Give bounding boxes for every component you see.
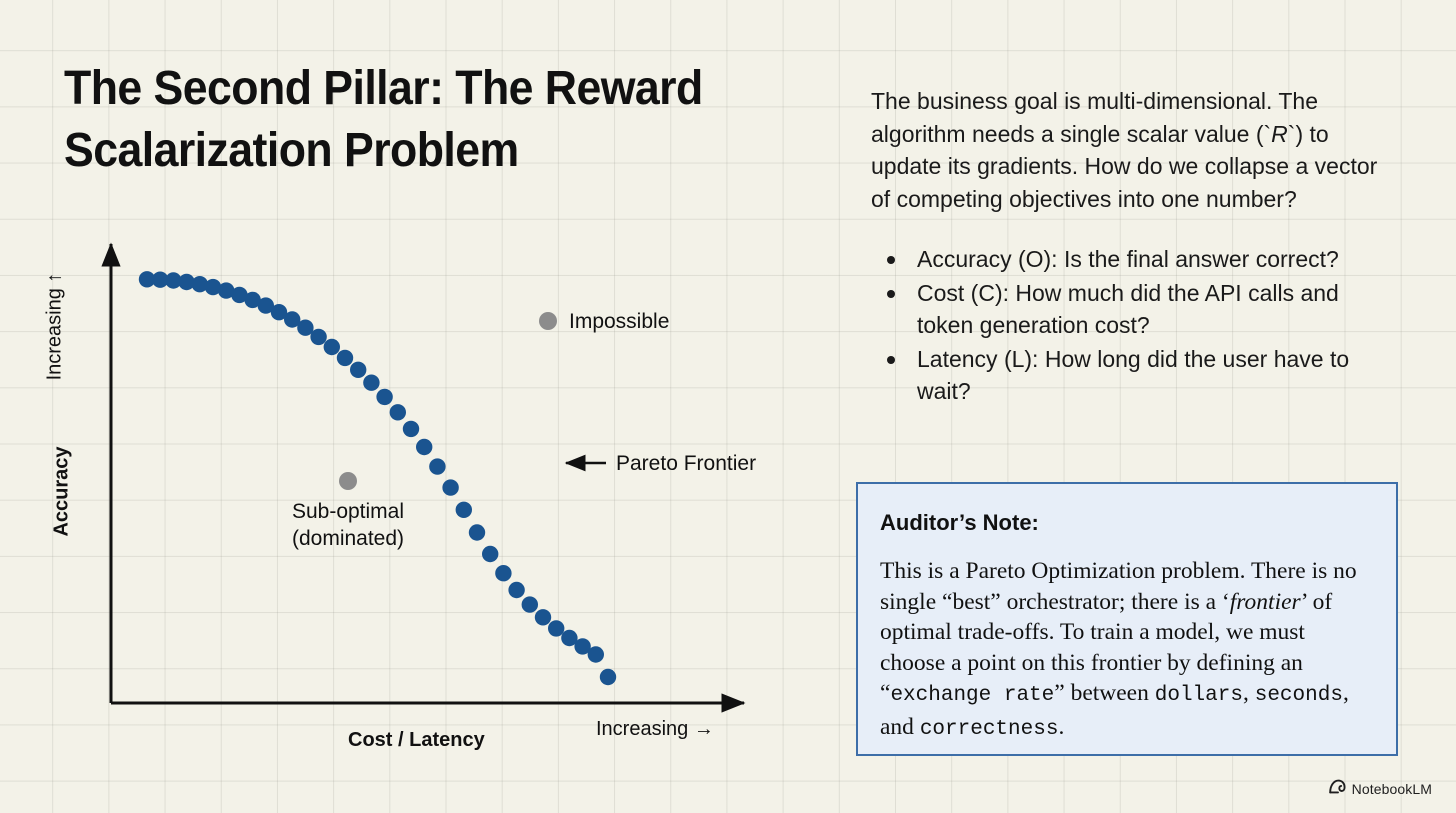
- bullet-text-cost: Cost (C): How much did the API calls and…: [917, 280, 1339, 339]
- bullet-text-accuracy: Accuracy (O): Is the final answer correc…: [917, 246, 1339, 272]
- auditors-note-body: This is a Pareto Optimization problem. T…: [880, 556, 1374, 745]
- intro-reward-symbol: R: [1271, 121, 1288, 147]
- intro-text-part1: The business goal is multi-dimensional. …: [871, 88, 1318, 147]
- y-axis-direction-note: Increasing ↑: [44, 212, 67, 442]
- footer-brand: NotebookLM: [1329, 779, 1432, 799]
- sub-optimal-label: Sub-optimal (dominated): [258, 498, 438, 552]
- x-axis-label: Cost / Latency: [348, 729, 485, 752]
- pareto-frontier-points: [139, 271, 616, 685]
- x-axis-direction-note: Increasing →: [596, 718, 714, 741]
- intro-paragraph: The business goal is multi-dimensional. …: [871, 85, 1391, 215]
- note-seg6: .: [1058, 714, 1064, 740]
- sub-optimal-point: [339, 472, 357, 490]
- auditors-note-box: Auditor’s Note: This is a Pareto Optimiz…: [856, 482, 1398, 756]
- slide-canvas: The Second Pillar: The Reward Scalarizat…: [0, 0, 1456, 813]
- list-item: Accuracy (O): Is the final answer correc…: [871, 243, 1391, 276]
- note-italic-frontier: frontier: [1230, 589, 1301, 615]
- note-mono-exchange-rate: exchange rate: [890, 684, 1054, 707]
- auditors-note-heading: Auditor’s Note:: [880, 510, 1374, 536]
- footer-brand-label: NotebookLM: [1352, 781, 1432, 797]
- list-item: Cost (C): How much did the API calls and…: [871, 277, 1391, 342]
- chart-svg: [0, 0, 840, 813]
- note-mono-dollars: dollars: [1155, 684, 1243, 707]
- objectives-list: Accuracy (O): Is the final answer correc…: [871, 243, 1391, 408]
- pareto-frontier-chart: Accuracy Increasing ↑ Cost / Latency Inc…: [0, 0, 840, 813]
- notebooklm-arc-icon: [1329, 779, 1346, 799]
- note-mono-correctness: correctness: [920, 718, 1059, 741]
- note-seg4: ,: [1243, 680, 1255, 706]
- list-item: Latency (L): How long did the user have …: [871, 343, 1391, 408]
- right-column: The business goal is multi-dimensional. …: [871, 62, 1391, 409]
- note-mono-seconds: seconds: [1255, 684, 1343, 707]
- note-seg3: ” between: [1054, 680, 1154, 706]
- pareto-frontier-label: Pareto Frontier: [616, 450, 756, 477]
- bullet-text-latency: Latency (L): How long did the user have …: [917, 346, 1349, 405]
- impossible-label: Impossible: [569, 308, 669, 335]
- impossible-point: [539, 312, 557, 330]
